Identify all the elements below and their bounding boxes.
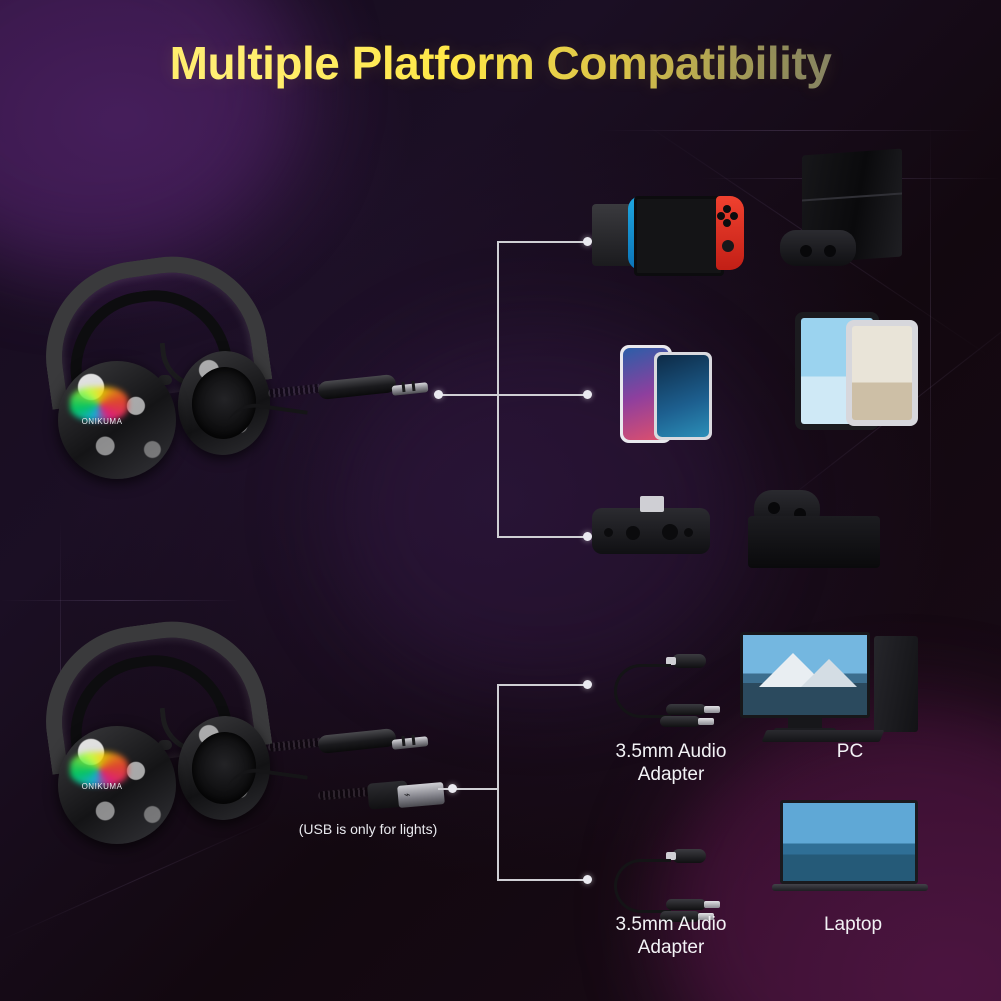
splitter-plug-audio-tip-pc (698, 718, 714, 725)
usb-icon: ⌁ (403, 788, 411, 802)
headset-top: ONIKUMA (30, 255, 280, 485)
device-playstation-4 (780, 152, 930, 274)
earcup-left-2: ONIKUMA (58, 726, 176, 844)
switch-button-a (730, 212, 738, 220)
splitter-female-jack-laptop (672, 849, 706, 863)
splitter-female-jack-pc (672, 654, 706, 668)
rgb-led-ring-2 (70, 752, 128, 786)
ps4-controller (780, 230, 856, 266)
splitter-plug-mic-pc (666, 704, 706, 715)
audio-plug-tip-top (392, 382, 429, 396)
switch-button-b (723, 219, 731, 227)
switch-stick-right (722, 240, 734, 252)
usb-connector-plug: ⌁ (397, 782, 445, 808)
adapter-body (592, 508, 710, 554)
connector-branch-laptop (497, 879, 587, 881)
connector-branch-phone (497, 394, 587, 396)
ps4-seam (802, 193, 902, 202)
deco-line-4 (930, 120, 931, 540)
splitter-wire-laptop-a (614, 859, 671, 913)
device-nintendo-switch (592, 196, 748, 274)
adapter-dial (626, 526, 640, 540)
connector-node-pc (583, 680, 592, 689)
adapter-button-left (604, 528, 613, 537)
tablet-white-screen (852, 326, 912, 420)
earcup-left: ONIKUMA (58, 361, 176, 479)
ps4-stick-right (824, 245, 836, 257)
splitter-wire-pc-a (614, 664, 671, 718)
usb-note-label: (USB is only for lights) (268, 818, 468, 841)
promo-image: Multiple Platform Compatibility ONIKUMA (0, 0, 1001, 1001)
android-body (654, 352, 712, 440)
device-tablet-white (846, 320, 918, 426)
pc-adapter-label-line2: Adapter (576, 763, 766, 786)
connector-node-xbox (583, 532, 592, 541)
splitter-plug-audio-pc (660, 716, 700, 727)
deco-line-1 (600, 130, 980, 131)
connector-node-phone (583, 390, 592, 399)
splitter-adapter-laptop (608, 847, 724, 909)
laptop-device-label: Laptop (790, 913, 916, 936)
laptop-adapter-label-line1: 3.5mm Audio (576, 913, 766, 936)
connector-spine-top (497, 241, 499, 537)
adapter-button-right (684, 528, 693, 537)
pc-monitor-screen (743, 635, 867, 715)
laptop-screen (780, 800, 918, 884)
connector-trunk-bottom (438, 788, 498, 790)
xbox-console (748, 516, 880, 568)
device-xbox-one (748, 490, 898, 576)
connector-branch-xbox (497, 536, 587, 538)
switch-button-x (723, 205, 731, 213)
laptop-base (772, 884, 928, 891)
headset-bottom: ONIKUMA (30, 620, 280, 850)
xbox-stick-left (768, 502, 780, 514)
switch-button-y (717, 212, 725, 220)
adapter-usb-port (640, 496, 664, 512)
pc-monitor (740, 632, 870, 718)
splitter-plug-mic-tip-pc (704, 706, 720, 713)
page-title: Multiple Platform Compatibility (0, 36, 1001, 90)
device-laptop (772, 800, 928, 892)
switch-joycon-right (716, 196, 744, 270)
connector-branch-pc (497, 684, 587, 686)
connector-spine-bottom (497, 684, 499, 880)
audio-plug-top (317, 374, 396, 400)
connector-node-laptop (583, 875, 592, 884)
wallpaper-mountain-2 (801, 659, 857, 687)
splitter-adapter-pc (608, 652, 724, 714)
switch-screen (634, 196, 724, 276)
pc-monitor-stand (788, 718, 822, 728)
deco-line-3 (0, 600, 240, 601)
connector-node-trunk-bottom (448, 784, 457, 793)
adapter-volume (662, 524, 678, 540)
connector-node-switch (583, 237, 592, 246)
pc-device-label: PC (790, 740, 910, 763)
audio-plug-tip-bottom (392, 736, 429, 750)
device-desktop-pc (740, 632, 930, 744)
laptop-adapter-label-line2: Adapter (576, 936, 766, 959)
ps4-stick-left (800, 245, 812, 257)
pc-tower (874, 636, 918, 732)
splitter-plug-mic-tip-laptop (704, 901, 720, 908)
splitter-plug-mic-laptop (666, 899, 706, 910)
pc-adapter-label-line1: 3.5mm Audio (576, 740, 766, 763)
connector-node-trunk-top (434, 390, 443, 399)
audio-plug-bottom (317, 728, 396, 754)
connector-branch-switch (497, 241, 587, 243)
android-screen (657, 355, 709, 437)
connector-trunk-top (438, 394, 498, 396)
laptop-wallpaper (783, 803, 915, 881)
device-xbox-audio-adapter (592, 508, 718, 568)
brand-logo-2: ONIKUMA (74, 782, 130, 791)
device-smartphone-android (654, 352, 712, 440)
